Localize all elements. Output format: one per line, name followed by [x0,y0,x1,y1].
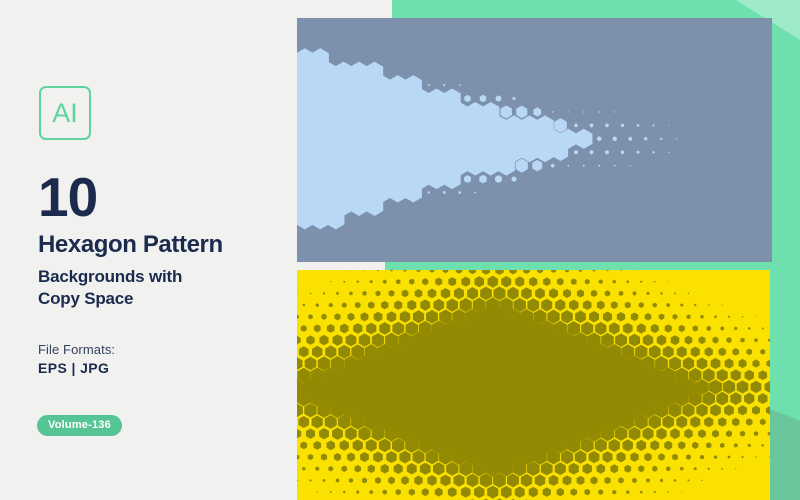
page-title: Hexagon Pattern [38,233,223,257]
page-subtitle: Backgrounds with Copy Space [38,266,182,310]
item-count: 10 [38,170,97,225]
blue-halftone-hexagon-art [297,18,772,262]
poster-canvas: AI 10 Hexagon Pattern Backgrounds with C… [0,0,800,500]
page-subtitle-line-1: Backgrounds with [38,266,182,288]
info-column: AI 10 Hexagon Pattern Backgrounds with C… [38,0,288,500]
file-formats-value: EPS | JPG [38,360,109,376]
volume-badge: Volume-136 [37,415,122,436]
file-formats-label: File Formats: [38,342,115,357]
green-separator-strip [385,262,770,270]
ai-badge-label: AI [52,100,78,127]
hexagon-pattern-preview-blue[interactable] [297,18,772,262]
yellow-halftone-hexagon-art [297,270,770,500]
hexagon-pattern-preview-yellow[interactable] [297,270,770,500]
adobe-illustrator-badge-icon: AI [39,86,91,140]
page-subtitle-line-2: Copy Space [38,288,182,310]
